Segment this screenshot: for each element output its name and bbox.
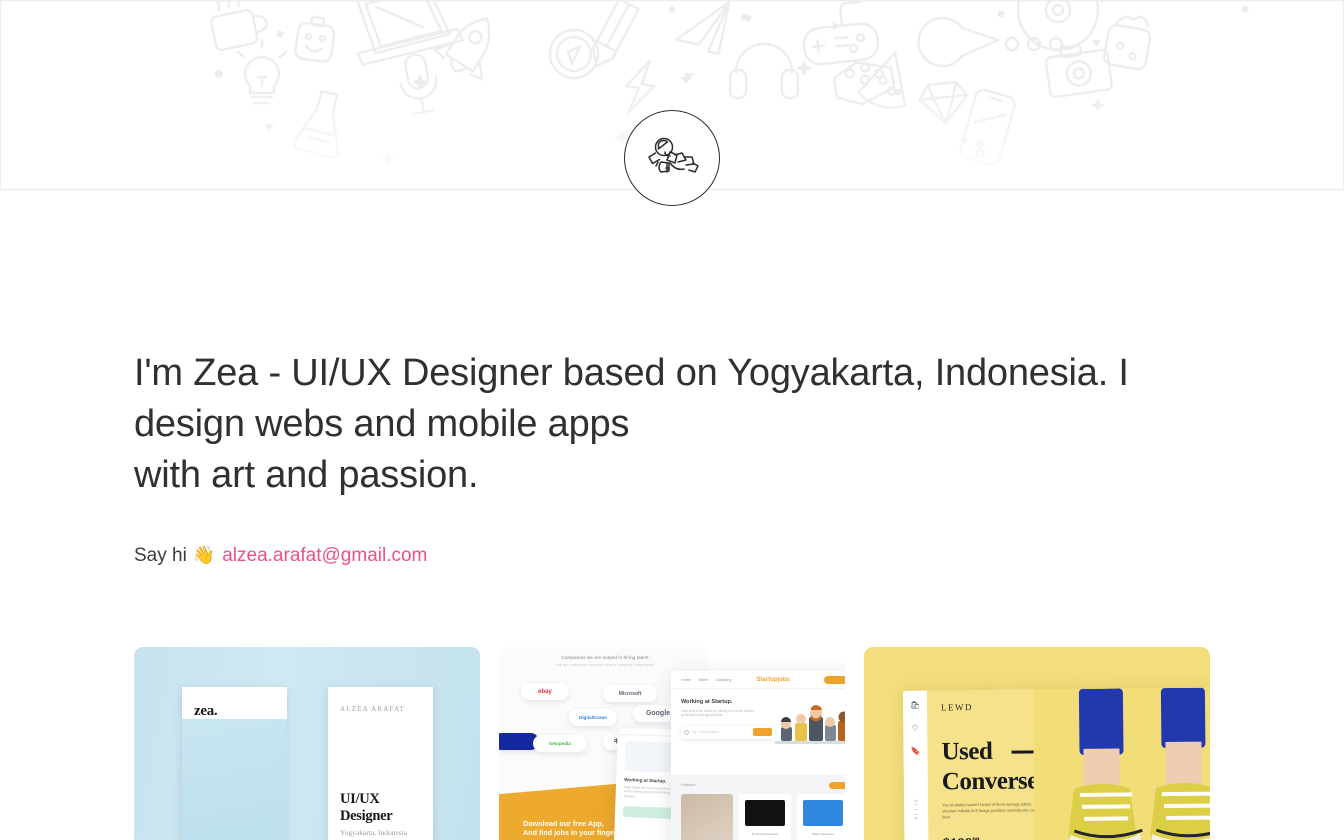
featured-tile-2[interactable]: Front-end Developer [739,794,791,840]
waving-hand-icon: 👋 [193,541,215,569]
headphones-icon [730,44,798,98]
coffee-mug-icon [207,0,270,51]
phone-body: Help shape the future by joining one of … [624,785,678,800]
featured-see-more-button[interactable] [829,782,845,789]
card3-title-2: Converse. [942,767,1044,796]
phone-cta-button[interactable] [623,806,677,819]
featured-tile-1[interactable] [681,794,733,840]
browser-body: Help shape the future by joining one of … [681,709,761,718]
price-amount: $199 [942,836,972,840]
pacman-icon [919,18,1062,66]
card3-description: You probably haven't heard of them selva… [942,801,1042,820]
featured-label: Featured [681,783,845,787]
contact-label: Say hi [134,542,187,570]
nav-talent[interactable]: Talent [698,678,708,682]
page-title: I'm Zea - UI/UX Designer based on Yogyak… [134,348,1134,501]
card3-sneakers-photo [1033,687,1210,840]
card3-side-rail: 🛍 ♡ 🔖 01 / 14 [903,691,929,840]
contact-line: Say hi 👋 alzea.arafat@gmail.com [134,541,427,570]
camera-icon [1044,41,1112,97]
featured-tile-3[interactable]: Native Developer [797,794,845,840]
nav-home[interactable]: Home [681,678,691,682]
game-controller-icon [800,0,880,65]
card1-poster-b: ALZEA ARAFAT UI/UX Designer Yogyakarta, … [328,687,433,840]
compact-disc-icon [1018,0,1098,50]
compass-icon [550,30,598,78]
card1-title: UI/UX Designer [340,791,433,825]
microphone-icon [396,52,442,115]
card3-price: $19999 [942,836,979,840]
heart-icon[interactable]: ♡ [912,724,919,733]
card2-hero-sub: We are more than hundreds of tech compan… [507,663,703,667]
signup-button[interactable] [824,676,845,684]
nav-company[interactable]: Company [715,678,731,682]
flask-icon [293,87,351,158]
browser-search-bar[interactable]: Try: Full Developer [681,726,775,739]
tile3-logo [803,800,843,826]
featured-tiles: Front-end Developer Native Developer [681,794,845,840]
card2-hero-text: Companies we are helped in hiring talent… [507,655,703,667]
project-card-converse-shop[interactable]: 🛍 ♡ 🔖 01 / 14 LEWD Used Converse. You pr… [864,647,1210,840]
card1-plant-photo [182,719,287,840]
search-button[interactable] [753,728,772,736]
card1-kicker: ALZEA ARAFAT [340,705,433,713]
sparkle-stars [215,6,1248,165]
lightning-icon [622,58,657,115]
diamond-icon [918,81,970,126]
card1-poster-a: zea. [182,687,287,840]
pizza-slice-icon [857,46,918,113]
card3-title-1: Used [941,738,992,767]
project-card-list: zea. ALZEA ARAFAT UI/UX Designer Yogyaka… [134,647,1210,840]
lightbulb-icon [238,40,286,103]
site-logo[interactable] [624,110,720,206]
browser-featured-section: Featured Front-end Developer Native Deve… [671,775,845,840]
browser-illustration [775,705,845,749]
logo-circle [624,110,720,206]
card3-mockup: 🛍 ♡ 🔖 01 / 14 LEWD Used Converse. You pr… [903,687,1210,840]
smartphone-icon [959,88,1017,166]
logo-chip-microsoft: Microsoft [603,685,657,702]
logo-chip-digitalocean: DigitalOcean [569,709,617,726]
tile2-title: Front-end Developer [739,832,791,836]
card1-subtitle: Yogyakarta, Indonesia [340,828,433,837]
card1-logo-text: zea. [194,703,287,720]
project-card-startup-jobs[interactable]: Companies we are helped in hiring talent… [499,647,845,840]
bookmark-icon[interactable]: 🔖 [910,747,920,756]
bag-icon[interactable]: 🛍 [910,701,920,710]
tile3-title: Native Developer [797,832,845,836]
card2-hero-title: Companies we are helped in hiring talent [507,655,703,660]
browser-nav: Home Talent Company Startupjobs [671,671,845,689]
lego-head-icon [294,15,336,63]
project-card-personal-branding[interactable]: zea. ALZEA ARAFAT UI/UX Designer Yogyaka… [134,647,480,840]
rocket-icon [431,4,511,85]
browser-logo: Startupjobs [757,677,790,683]
hero-section: I'm Zea - UI/UX Designer based on Yogyak… [134,348,1134,501]
pencil-icon [586,0,638,71]
paper-plane-icon [672,2,736,60]
laptop-icon [350,0,464,65]
card2-browser-mockup: Home Talent Company Startupjobs Working … [671,671,845,840]
card3-brand: LEWD [941,702,973,712]
tile2-logo [745,800,785,826]
logo-chip-tokopedia: tokopedia [533,735,587,752]
email-link[interactable]: alzea.arafat@gmail.com [222,542,427,570]
price-cents: 99 [972,836,979,840]
rail-counter: 01 / 14 [913,800,918,821]
logo-chip-ebay: ebay [521,683,569,700]
astronaut-icon [644,130,700,186]
portfolio-page: I'm Zea - UI/UX Designer based on Yogyak… [0,0,1344,840]
search-placeholder: Try: Full Developer [692,730,750,734]
search-icon [684,730,689,735]
snack-bag-icon [1103,12,1153,71]
lego-brick-icon [833,58,896,108]
